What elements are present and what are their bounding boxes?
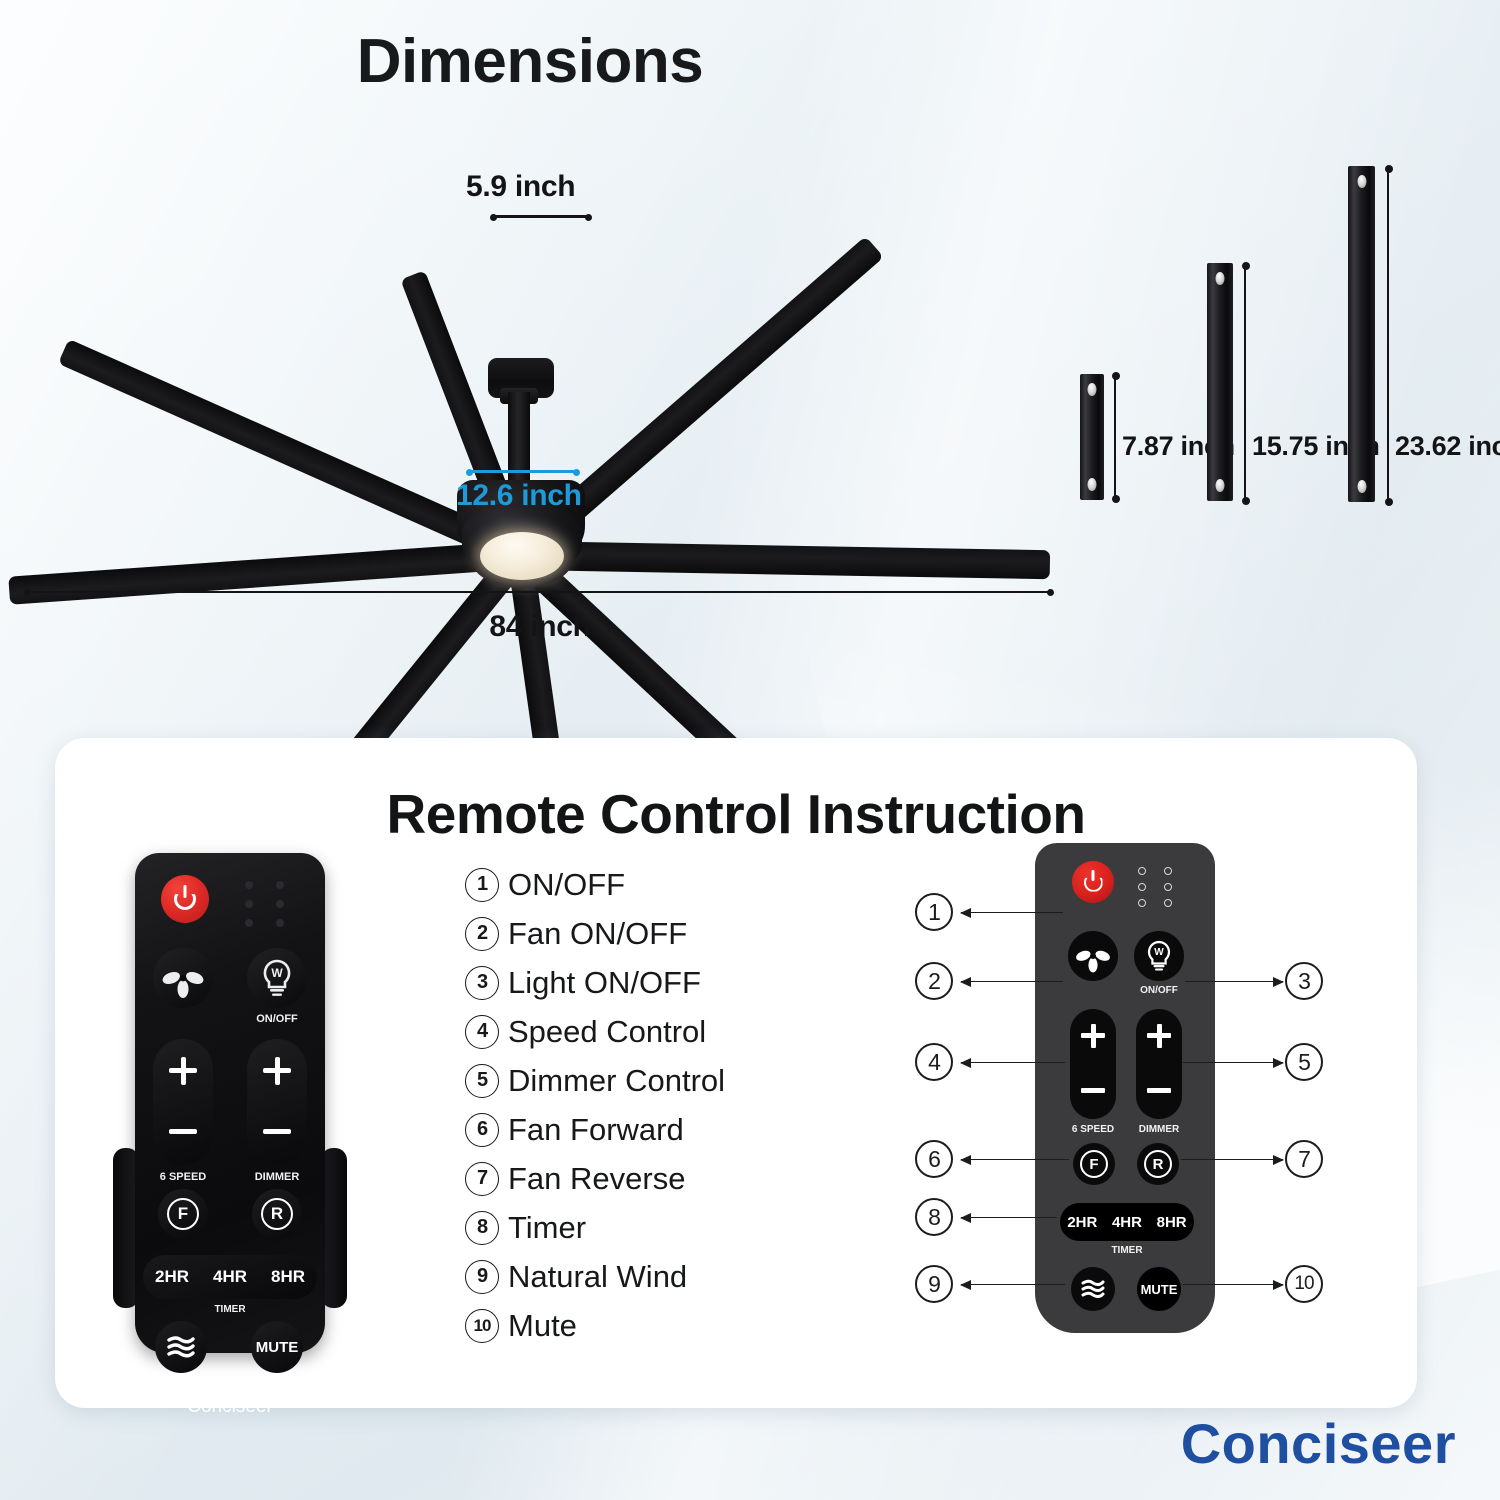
callout-9: 9: [915, 1265, 953, 1303]
ir-dot-grid: [1138, 867, 1174, 907]
downrod-hole-bottom: [1357, 480, 1366, 493]
minus-icon: [263, 1129, 291, 1134]
fan-reverse-button[interactable]: R: [252, 1189, 302, 1239]
forward-icon: F: [167, 1198, 199, 1230]
list-item-label: Dimmer Control: [508, 1063, 725, 1099]
plus-icon-v: [275, 1057, 280, 1085]
fan-span-dimension-line: [26, 591, 1052, 593]
minus-icon: [1081, 1088, 1105, 1093]
forward-icon: F: [1080, 1150, 1108, 1178]
remote-instruction-card: Remote Control Instruction 1 ON/OFF 2 Fa…: [55, 738, 1417, 1408]
list-item-number: 9: [465, 1260, 499, 1294]
list-item-label: ON/OFF: [508, 867, 625, 903]
speed-sublabel: 6 SPEED: [153, 1171, 213, 1183]
callout-7: 7: [1285, 1140, 1323, 1178]
list-item: 2 Fan ON/OFF: [465, 909, 725, 958]
speed-rocker[interactable]: [153, 1039, 213, 1165]
timer-option-2hr[interactable]: 2HR: [155, 1267, 189, 1287]
dimmer-sublabel: DIMMER: [1136, 1124, 1182, 1135]
list-item: 7 Fan Reverse: [465, 1154, 725, 1203]
downrod-hole-top: [1088, 383, 1097, 396]
list-item: 8 Timer: [465, 1203, 725, 1252]
list-item-number: 3: [465, 966, 499, 1000]
timer-bar[interactable]: 2HR 4HR 8HR: [1060, 1203, 1194, 1241]
callout-arrow-7: [1181, 1159, 1283, 1160]
timer-sublabel: TIMER: [143, 1304, 317, 1315]
list-item: 6 Fan Forward: [465, 1105, 725, 1154]
downrod-hole-bottom: [1216, 479, 1225, 492]
timer-option-4hr[interactable]: 4HR: [1112, 1214, 1142, 1231]
downrod-hole-bottom: [1088, 478, 1097, 491]
downrod-medium: [1207, 263, 1233, 501]
power-button[interactable]: [161, 875, 209, 923]
ir-dot-grid: [245, 881, 287, 927]
timer-option-8hr[interactable]: 8HR: [271, 1267, 305, 1287]
list-item-label: Speed Control: [508, 1014, 706, 1050]
remote-photo: W ON/OFF 6 SPEED DIMMER F: [105, 853, 355, 1363]
callout-3: 3: [1285, 962, 1323, 1000]
svg-text:W: W: [271, 966, 283, 980]
light-bulb-w-icon: W: [247, 948, 307, 1008]
list-item-label: Light ON/OFF: [508, 965, 701, 1001]
fan-reverse-button[interactable]: R: [1137, 1143, 1179, 1185]
page-title-dimensions: Dimensions: [0, 26, 1060, 97]
list-item-number: 2: [465, 917, 499, 951]
list-item-number: 10: [465, 1309, 499, 1343]
list-item-number: 1: [465, 868, 499, 902]
light-onoff-button[interactable]: W: [247, 948, 307, 1008]
mute-button[interactable]: MUTE: [1137, 1267, 1181, 1311]
downrod-hole-top: [1357, 175, 1366, 188]
list-item: 5 Dimmer Control: [465, 1056, 725, 1105]
callout-6: 6: [915, 1140, 953, 1178]
fan-onoff-button[interactable]: [1068, 931, 1118, 981]
callout-8: 8: [915, 1198, 953, 1236]
fan-forward-button[interactable]: F: [1073, 1143, 1115, 1185]
dimmer-rocker[interactable]: [1136, 1009, 1182, 1119]
fan-led-light: [480, 532, 564, 580]
minus-icon: [1147, 1088, 1171, 1093]
callout-2: 2: [915, 962, 953, 1000]
callout-5: 5: [1285, 1043, 1323, 1081]
callout-arrow-3: [1185, 981, 1283, 982]
power-icon: [1084, 873, 1103, 892]
remote-diagram-body: [1035, 843, 1215, 1333]
function-list: 1 ON/OFF 2 Fan ON/OFF 3 Light ON/OFF 4 S…: [465, 860, 725, 1350]
list-item: 4 Speed Control: [465, 1007, 725, 1056]
mute-button[interactable]: MUTE: [251, 1321, 303, 1373]
svg-text:W: W: [1154, 947, 1164, 958]
light-bulb-w-icon: W: [1134, 931, 1184, 981]
timer-option-4hr[interactable]: 4HR: [213, 1267, 247, 1287]
list-item-label: Mute: [508, 1308, 577, 1344]
card-title-remote-control: Remote Control Instruction: [55, 782, 1417, 846]
speed-sublabel: 6 SPEED: [1070, 1124, 1116, 1135]
fan-blade-icon: [1068, 931, 1118, 981]
wave-lines-icon: [155, 1321, 207, 1373]
fan-onoff-button[interactable]: [153, 948, 213, 1008]
downrod-medium-dimension-line: [1244, 265, 1246, 502]
downrod-large-dimension-line: [1387, 168, 1389, 503]
callout-arrow-2: [961, 981, 1063, 982]
callout-arrow-8: [961, 1217, 1057, 1218]
plus-icon-v: [1091, 1024, 1096, 1048]
minus-icon: [169, 1129, 197, 1134]
timer-option-8hr[interactable]: 8HR: [1157, 1214, 1187, 1231]
light-dimension-line: [468, 470, 578, 473]
light-onoff-sublabel: ON/OFF: [247, 1013, 307, 1025]
callout-10: 10: [1285, 1265, 1323, 1303]
list-item: 9 Natural Wind: [465, 1252, 725, 1301]
downrod-small: [1080, 374, 1104, 500]
list-item-number: 6: [465, 1113, 499, 1147]
list-item-label: Timer: [508, 1210, 586, 1246]
callout-arrow-4: [961, 1062, 1065, 1063]
wave-lines-icon: [1071, 1267, 1115, 1311]
callout-arrow-1: [961, 912, 1063, 913]
fan-forward-button[interactable]: F: [158, 1189, 208, 1239]
callout-arrow-6: [961, 1159, 1069, 1160]
list-item: 1 ON/OFF: [465, 860, 725, 909]
light-onoff-sublabel: ON/OFF: [1134, 985, 1184, 996]
list-item: 3 Light ON/OFF: [465, 958, 725, 1007]
list-item-number: 5: [465, 1064, 499, 1098]
downrod-hole-top: [1216, 272, 1225, 285]
timer-option-2hr[interactable]: 2HR: [1067, 1214, 1097, 1231]
list-item: 10 Mute: [465, 1301, 725, 1350]
power-icon: [174, 888, 196, 910]
timer-sublabel: TIMER: [1060, 1245, 1194, 1256]
fan-blade: [8, 541, 521, 605]
callout-1: 1: [915, 893, 953, 931]
callout-4: 4: [915, 1043, 953, 1081]
list-item-number: 4: [465, 1015, 499, 1049]
remote-diagram: W ON/OFF 6 SPEED DIMMER F: [1035, 843, 1215, 1333]
list-item-label: Fan Reverse: [508, 1161, 685, 1197]
timer-bar[interactable]: 2HR 4HR 8HR: [143, 1255, 317, 1299]
plus-icon-v: [181, 1057, 186, 1085]
dimmer-rocker[interactable]: [247, 1039, 307, 1165]
speed-rocker[interactable]: [1070, 1009, 1116, 1119]
list-item-number: 7: [465, 1162, 499, 1196]
reverse-icon: R: [261, 1198, 293, 1230]
list-item-label: Fan ON/OFF: [508, 916, 687, 952]
infographic-page: Dimensions 5.9 inch 12.6 inch 84 inch 7.…: [0, 0, 1500, 1500]
plus-icon-v: [1157, 1024, 1162, 1048]
reverse-icon: R: [1144, 1150, 1172, 1178]
downrod-large: [1348, 166, 1375, 502]
fan-blade-icon: [153, 948, 213, 1008]
dimmer-sublabel: DIMMER: [247, 1171, 307, 1183]
fan-span-dimension-label: 84 inch: [0, 610, 1080, 644]
light-dimension-label: 12.6 inch: [456, 479, 582, 513]
natural-wind-button[interactable]: [1071, 1267, 1115, 1311]
list-item-number: 8: [465, 1211, 499, 1245]
list-item-label: Natural Wind: [508, 1259, 687, 1295]
canopy-dimension-line: [492, 215, 590, 218]
list-item-label: Fan Forward: [508, 1112, 684, 1148]
brand-logo: Conciseer: [1181, 1411, 1456, 1476]
remote-brand-label: Conciseer: [105, 1396, 355, 1418]
light-onoff-button[interactable]: W: [1134, 931, 1184, 981]
callout-arrow-5: [1183, 1062, 1283, 1063]
natural-wind-button[interactable]: [155, 1321, 207, 1373]
downrod-large-label: 23.62 inch: [1395, 431, 1500, 462]
callout-arrow-10: [1183, 1284, 1283, 1285]
canopy-dimension-label: 5.9 inch: [466, 170, 575, 204]
downrod-small-dimension-line: [1114, 375, 1116, 500]
fan-blade: [520, 541, 1050, 579]
power-button[interactable]: [1072, 861, 1114, 903]
callout-arrow-9: [961, 1284, 1065, 1285]
